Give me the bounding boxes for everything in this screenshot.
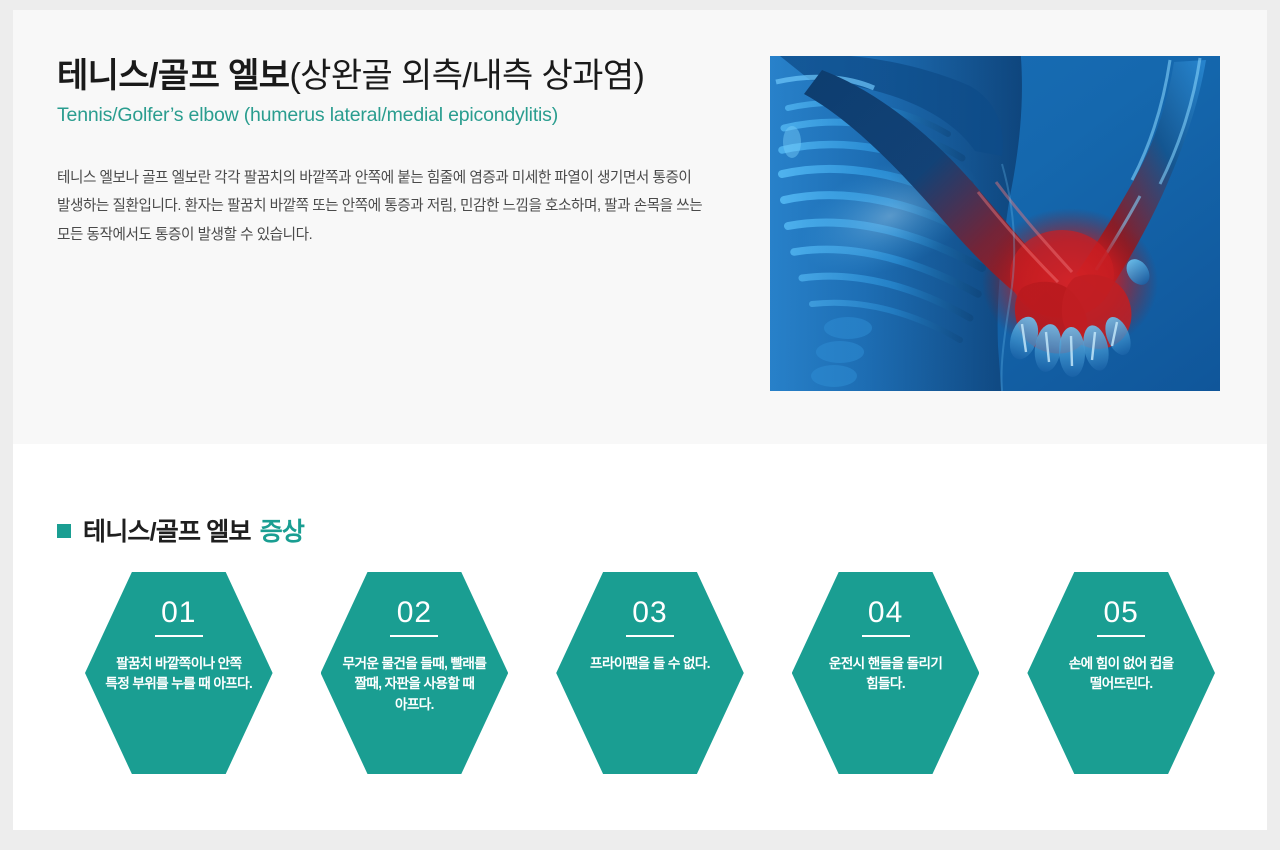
symptom-hexagon: 02 무거운 물건을 들때, 빨래를 짤때, 자판을 사용할 때 아프다. — [321, 572, 509, 774]
number-underline — [155, 635, 203, 637]
symptom-number: 01 — [161, 598, 196, 628]
intro-text-block: 테니스/골프 엘보(상완골 외측/내측 상과염) Tennis/Golfer’s… — [57, 55, 747, 249]
symptoms-heading-accent: 증상 — [260, 512, 304, 548]
symptom-label: 무거운 물건을 들때, 빨래를 짤때, 자판을 사용할 때 아프다. — [339, 654, 489, 716]
intro-description: 테니스 엘보나 골프 엘보란 각각 팔꿈치의 바깥쪽과 안쪽에 붙는 힘줄에 염… — [57, 164, 705, 249]
xray-graphic — [770, 56, 1220, 391]
number-underline — [390, 635, 438, 637]
page-container: 테니스/골프 엘보(상완골 외측/내측 상과염) Tennis/Golfer’s… — [13, 10, 1267, 830]
symptom-number: 03 — [632, 598, 667, 628]
symptom-hexagon-row: 01 팔꿈치 바깥쪽이나 안쪽 특정 부위를 누를 때 아프다. 02 무거운 … — [85, 572, 1215, 782]
symptom-label: 운전시 핸들을 돌리기 힘들다. — [811, 654, 961, 695]
page-subtitle-english: Tennis/Golfer’s elbow (humerus lateral/m… — [57, 103, 747, 128]
symptoms-heading-text: 테니스/골프 엘보 — [83, 512, 251, 548]
symptom-hexagon: 03 프라이팬을 들 수 없다. — [556, 572, 744, 774]
page-title-main: 테니스/골프 엘보 — [57, 57, 289, 95]
number-underline — [1097, 635, 1145, 637]
number-underline — [626, 635, 674, 637]
symptom-label: 손에 힘이 없어 컵을 떨어뜨린다. — [1046, 654, 1196, 695]
symptoms-section: 테니스/골프 엘보 증상 01 팔꿈치 바깥쪽이나 안쪽 특정 부위를 누를 때… — [13, 444, 1267, 830]
symptoms-heading: 테니스/골프 엘보 증상 — [57, 512, 304, 548]
page-title-sub: (상완골 외측/내측 상과염) — [289, 57, 644, 95]
symptom-number: 05 — [1103, 598, 1138, 628]
symptom-label: 팔꿈치 바깥쪽이나 안쪽 특정 부위를 누를 때 아프다. — [104, 654, 254, 695]
symptom-hexagon: 01 팔꿈치 바깥쪽이나 안쪽 특정 부위를 누를 때 아프다. — [85, 572, 273, 774]
square-bullet-icon — [57, 524, 71, 538]
symptom-label: 프라이팬을 들 수 없다. — [575, 654, 725, 675]
page-title: 테니스/골프 엘보(상완골 외측/내측 상과염) — [57, 55, 747, 98]
elbow-xray-illustration — [770, 56, 1220, 391]
number-underline — [862, 635, 910, 637]
symptom-hexagon: 04 운전시 핸들을 돌리기 힘들다. — [792, 572, 980, 774]
intro-section: 테니스/골프 엘보(상완골 외측/내측 상과염) Tennis/Golfer’s… — [13, 10, 1267, 444]
symptom-number: 02 — [397, 598, 432, 628]
symptom-number: 04 — [868, 598, 903, 628]
symptom-hexagon: 05 손에 힘이 없어 컵을 떨어뜨린다. — [1027, 572, 1215, 774]
